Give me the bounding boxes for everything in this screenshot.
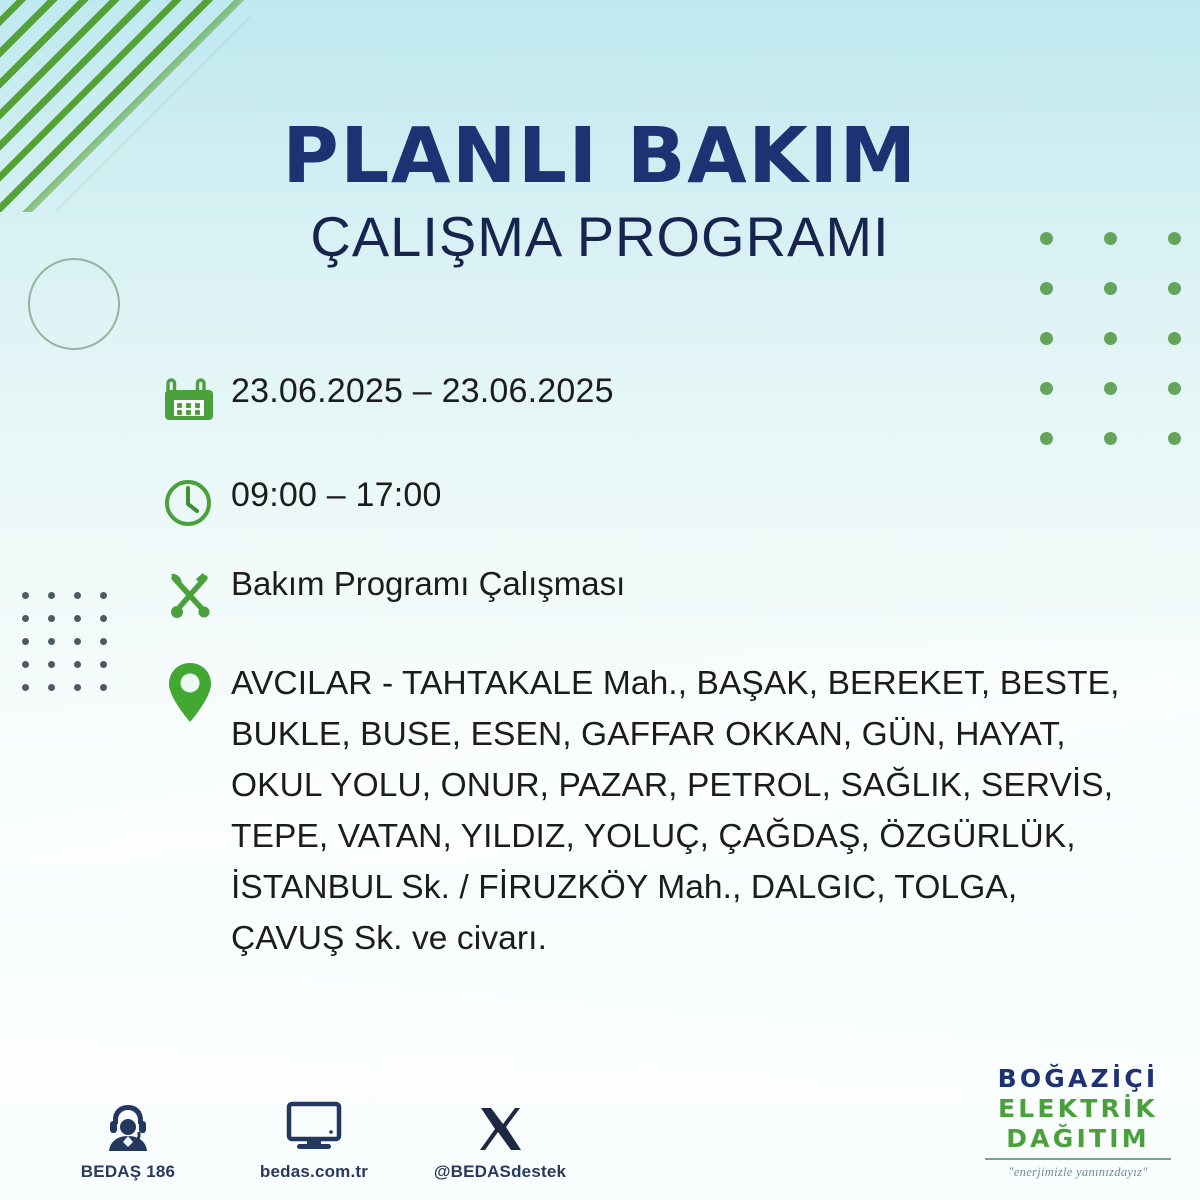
- monitor-icon: [244, 1097, 384, 1153]
- decoration-dot: [22, 661, 29, 668]
- decoration-dot: [1040, 282, 1053, 295]
- location-line: İSTANBUL Sk. / FİRUZKÖY Mah., DALGIC, TO…: [231, 862, 1120, 913]
- date-range-value: 23.06.2025 – 23.06.2025: [231, 372, 614, 410]
- work-type-value: Bakım Programı Çalışması: [231, 566, 625, 603]
- poster-footer: BEDAŞ 186 bedas.com.tr: [0, 1030, 1200, 1200]
- info-row-time: 09:00 – 17:00: [163, 476, 1173, 566]
- location-line: OKUL YOLU, ONUR, PAZAR, PETROL, SAĞLIK, …: [231, 760, 1120, 811]
- planned-maintenance-poster: PLANLI BAKIM ÇALIŞMA PROGRAMI: [0, 0, 1200, 1200]
- info-list: 23.06.2025 – 23.06.2025 09:00 – 17:00: [163, 372, 1173, 964]
- decoration-dot: [100, 592, 107, 599]
- decoration-dot: [1104, 282, 1117, 295]
- decoration-dot: [48, 661, 55, 668]
- bedas-logo: BOĞAZİÇİ ELEKTRİK DAĞITIM "enerjimizle y…: [978, 1066, 1178, 1178]
- page-title: PLANLI BAKIM: [0, 118, 1200, 195]
- info-row-work-type: Bakım Programı Çalışması: [163, 566, 1173, 658]
- calendar-icon: [163, 372, 231, 426]
- time-range-value: 09:00 – 17:00: [231, 476, 442, 514]
- decoration-dot: [22, 592, 29, 599]
- decoration-dot: [1168, 332, 1181, 345]
- contact-label: bedas.com.tr: [244, 1162, 384, 1182]
- contact-label: BEDAŞ 186: [58, 1162, 198, 1182]
- location-line: TEPE, VATAN, YILDIZ, YOLUÇ, ÇAĞDAŞ, ÖZGÜ…: [231, 811, 1120, 862]
- poster-header: PLANLI BAKIM ÇALIŞMA PROGRAMI: [0, 118, 1200, 265]
- decoration-dot: [74, 592, 81, 599]
- logo-line-elektrik: ELEKTRİK: [978, 1096, 1178, 1121]
- decoration-dot: [48, 615, 55, 622]
- decoration-dot: [22, 684, 29, 691]
- contact-call-center[interactable]: BEDAŞ 186: [58, 1097, 198, 1182]
- info-row-location: AVCILAR - TAHTAKALE Mah., BAŞAK, BEREKET…: [163, 658, 1173, 964]
- decoration-dot: [22, 638, 29, 645]
- logo-divider: [985, 1158, 1171, 1160]
- decoration-dot: [1104, 332, 1117, 345]
- decoration-dot: [100, 615, 107, 622]
- decoration-dot: [1168, 282, 1181, 295]
- location-text: AVCILAR - TAHTAKALE Mah., BAŞAK, BEREKET…: [231, 658, 1120, 964]
- decoration-dot: [100, 638, 107, 645]
- logo-line-bogazici: BOĞAZİÇİ: [978, 1066, 1178, 1091]
- x-twitter-icon: [430, 1097, 570, 1153]
- decoration-dot: [48, 684, 55, 691]
- logo-tagline: "enerjimizle yanınızdayız": [978, 1166, 1178, 1179]
- contact-x-account[interactable]: @BEDASdestek: [430, 1097, 570, 1182]
- dot-grid-left-decoration: [22, 592, 126, 707]
- contact-label: @BEDASdestek: [430, 1162, 570, 1182]
- decoration-dot: [74, 661, 81, 668]
- location-line: BUKLE, BUSE, ESEN, GAFFAR OKKAN, GÜN, HA…: [231, 709, 1120, 760]
- decoration-dot: [48, 638, 55, 645]
- clock-icon: [163, 476, 231, 530]
- circle-outline-decoration: [28, 258, 120, 350]
- info-row-date: 23.06.2025 – 23.06.2025: [163, 372, 1173, 476]
- contact-website[interactable]: bedas.com.tr: [244, 1097, 384, 1182]
- location-line: ÇAVUŞ Sk. ve civarı.: [231, 913, 1120, 964]
- decoration-dot: [100, 684, 107, 691]
- decoration-dot: [74, 615, 81, 622]
- contact-channels: BEDAŞ 186 bedas.com.tr: [58, 1097, 570, 1182]
- tools-icon: [163, 566, 231, 622]
- decoration-dot: [74, 638, 81, 645]
- location-line: AVCILAR - TAHTAKALE Mah., BAŞAK, BEREKET…: [231, 658, 1120, 709]
- decoration-dot: [100, 661, 107, 668]
- decoration-dot: [1040, 332, 1053, 345]
- logo-line-dagitim: DAĞITIM: [978, 1126, 1178, 1151]
- decoration-dot: [48, 592, 55, 599]
- decoration-dot: [74, 684, 81, 691]
- map-pin-icon: [163, 658, 231, 726]
- headset-agent-icon: [58, 1097, 198, 1153]
- page-subtitle: ÇALIŞMA PROGRAMI: [0, 209, 1200, 265]
- decoration-dot: [22, 615, 29, 622]
